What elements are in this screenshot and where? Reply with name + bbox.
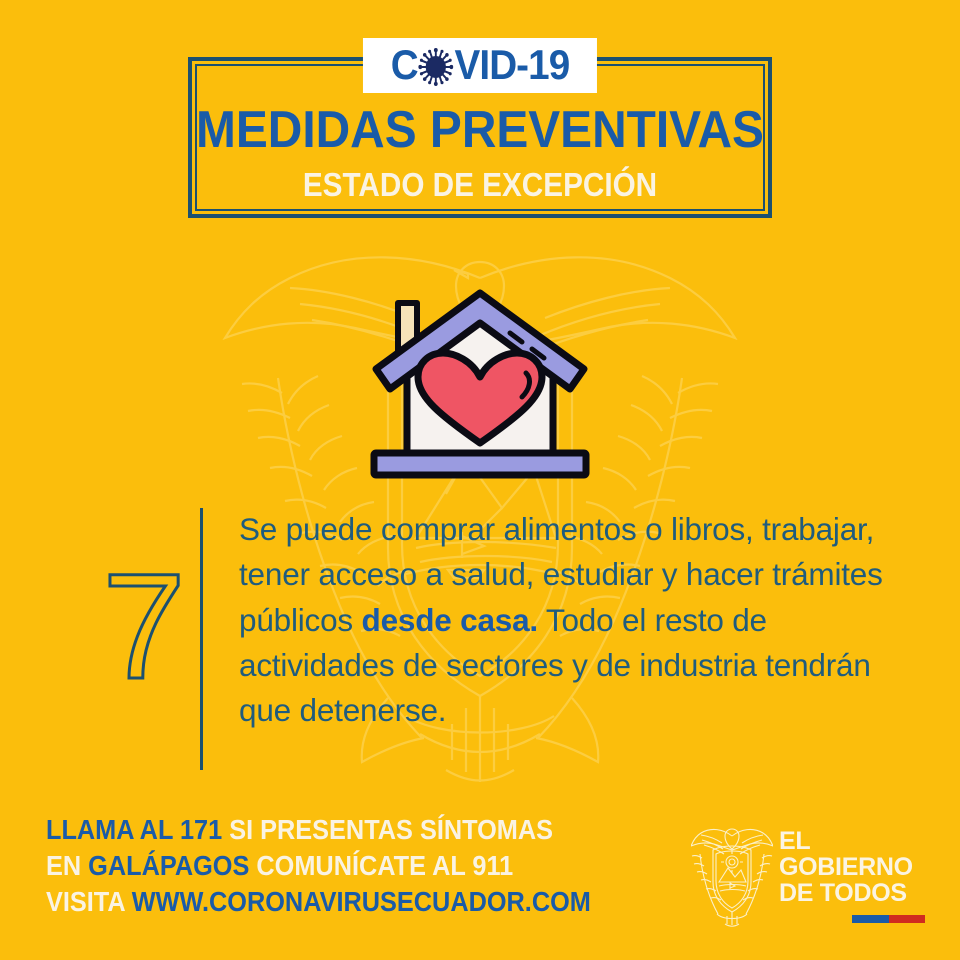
measure-text-highlight: desde casa. bbox=[362, 602, 538, 638]
footer-line-2-prefix: EN bbox=[46, 850, 81, 881]
footer-line-2: EN GALÁPAGOS COMUNÍCATE AL 911 bbox=[46, 848, 591, 884]
covid19-wordmark: C bbox=[391, 44, 570, 86]
flag-stripe-blue bbox=[852, 915, 889, 923]
footer-visit-label: VISITA bbox=[46, 886, 125, 917]
footer-hotline-171: LLAMA AL 171 bbox=[46, 814, 222, 845]
footer-line-3: VISITA WWW.CORONAVIRUSECUADOR.COM bbox=[46, 884, 591, 920]
page-title: MEDIDAS PREVENTIVAS bbox=[38, 104, 921, 156]
footer-line-1: LLAMA AL 171 SI PRESENTAS SÍNTOMAS bbox=[46, 812, 591, 848]
measure-number: 7 bbox=[88, 505, 200, 701]
coronavirus-icon bbox=[419, 48, 454, 86]
house-with-heart-icon bbox=[360, 285, 600, 485]
measure-text: Se puede comprar alimentos o libros, tra… bbox=[239, 505, 900, 734]
flag-stripe-yellow bbox=[779, 915, 852, 923]
gov-logo-line-3: DE TODOS bbox=[779, 880, 927, 906]
footer-website-url[interactable]: WWW.CORONAVIRUSECUADOR.COM bbox=[132, 886, 591, 917]
covid-badge-prefix: C bbox=[391, 44, 418, 86]
government-logo: EL GOBIERNO DE TODOS bbox=[691, 824, 927, 930]
footer-line-1-text: SI PRESENTAS SÍNTOMAS bbox=[229, 814, 553, 845]
gov-logo-line-1: EL bbox=[779, 828, 927, 854]
covid-badge-suffix: VID-19 bbox=[455, 44, 570, 86]
covid19-badge: C bbox=[363, 38, 597, 93]
footer-hotline-911: COMUNÍCATE AL 911 bbox=[256, 850, 513, 881]
measure-block: 7 Se puede comprar alimentos o libros, t… bbox=[88, 505, 900, 775]
government-logo-text: EL GOBIERNO DE TODOS bbox=[773, 824, 927, 923]
vertical-divider bbox=[200, 508, 203, 770]
ecuador-coat-of-arms-icon bbox=[691, 824, 773, 928]
footer-region-galapagos: GALÁPAGOS bbox=[88, 850, 249, 881]
page-subtitle: ESTADO DE EXCEPCIÓN bbox=[48, 168, 912, 201]
ecuador-tricolor-bar bbox=[779, 915, 925, 923]
footer-contact-info: LLAMA AL 171 SI PRESENTAS SÍNTOMAS EN GA… bbox=[46, 812, 638, 919]
flag-stripe-red bbox=[889, 915, 926, 923]
poster-root: C bbox=[0, 0, 960, 960]
gov-logo-line-2: GOBIERNO bbox=[779, 854, 927, 880]
